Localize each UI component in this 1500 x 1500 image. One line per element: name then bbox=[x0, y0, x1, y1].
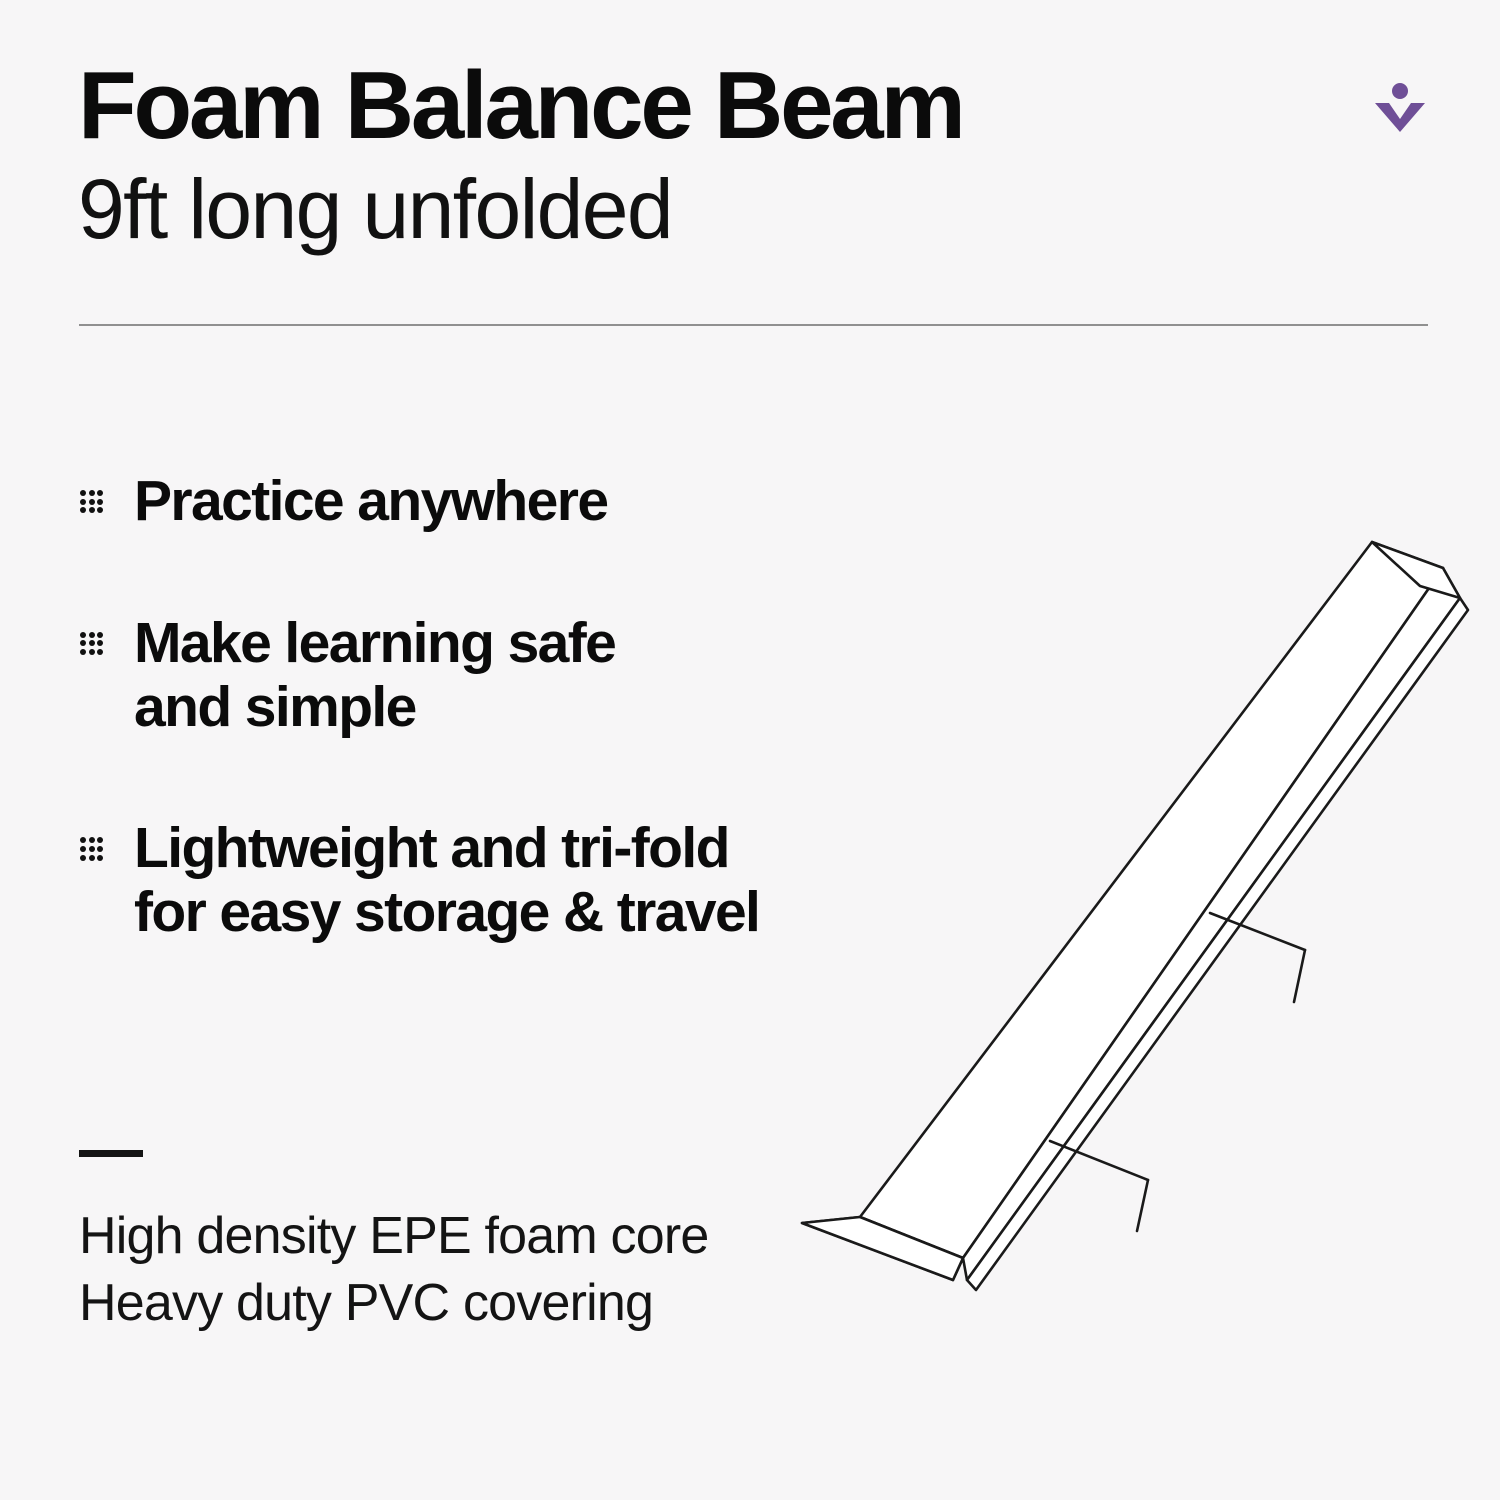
header-divider bbox=[79, 324, 1428, 326]
dot-grid-icon bbox=[80, 490, 104, 514]
dot-grid-icon bbox=[80, 837, 104, 861]
page-title: Foam Balance Beam bbox=[78, 58, 1368, 154]
header: Foam Balance Beam 9ft long unfolded bbox=[78, 58, 1368, 253]
footer-specs: High density EPE foam core Heavy duty PV… bbox=[79, 1150, 839, 1336]
feature-item: Make learning safe and simple bbox=[78, 612, 878, 740]
chevron-dot-mark-icon bbox=[1372, 82, 1428, 134]
footer-divider-dash bbox=[79, 1150, 143, 1157]
spec-line: High density EPE foam core bbox=[79, 1203, 839, 1270]
brand-logo bbox=[1372, 82, 1428, 134]
product-illustration bbox=[760, 490, 1500, 1340]
page-subtitle: 9ft long unfolded bbox=[78, 166, 1368, 253]
dot-grid-icon bbox=[80, 632, 104, 656]
feature-item: Practice anywhere bbox=[78, 470, 878, 534]
feature-list: Practice anywhere Make learning safe and… bbox=[78, 470, 878, 945]
spec-line: Heavy duty PVC covering bbox=[79, 1270, 839, 1337]
balance-beam-drawing-icon bbox=[760, 490, 1500, 1340]
product-infographic: Foam Balance Beam 9ft long unfolded Prac… bbox=[0, 0, 1500, 1500]
feature-item: Lightweight and tri-fold for easy storag… bbox=[78, 817, 878, 945]
